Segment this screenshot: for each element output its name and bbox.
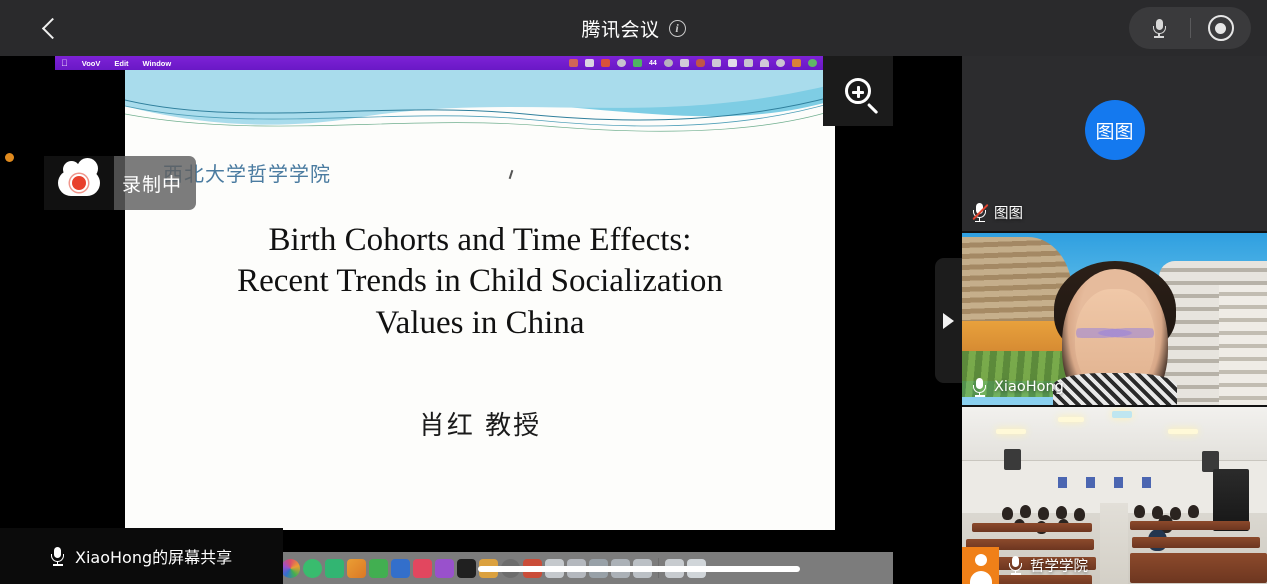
presentation-slide: 西北大学哲学学院 Birth Cohorts and Time Effects:… (125, 70, 835, 530)
home-indicator[interactable] (478, 566, 800, 572)
slide-decoration (125, 70, 835, 160)
participant-name: XiaoHong (994, 379, 1064, 395)
menu-item-voov[interactable]: VooV (82, 59, 101, 68)
microphone-button[interactable] (1129, 7, 1190, 49)
share-owner-label: XiaoHong的屏幕共享 (75, 544, 232, 568)
slide-title-line-2: Recent Trends in Child Socialization (155, 261, 805, 302)
slide-author: 肖红 教授 (155, 405, 805, 442)
meeting-screen: 腾讯会议 i  VooV Edit (0, 0, 1267, 584)
avatar (962, 547, 999, 584)
participant-tile-tutu[interactable]: 图图 图图 (962, 56, 1267, 231)
status-icon-4[interactable] (617, 59, 626, 67)
wall-calligraphy (1058, 477, 1170, 488)
screen-share-area[interactable]:  VooV Edit Window 44 (0, 56, 962, 584)
participant-label: 图图 (972, 202, 1023, 223)
participant-label: XiaoHong (972, 378, 1064, 397)
zoom-in-button[interactable] (823, 56, 893, 126)
record-button[interactable] (1191, 7, 1252, 49)
display-status-icon[interactable] (712, 59, 721, 67)
status-dot-indicator (5, 153, 14, 162)
siri-status-icon[interactable] (808, 59, 817, 67)
microphone-icon (1152, 19, 1167, 38)
participant-tile-xiaohong[interactable]: XiaoHong (962, 233, 1267, 404)
recording-label-box: 录制中 (114, 156, 196, 210)
screen-share-footer: XiaoHong的屏幕共享 (0, 528, 962, 584)
microphone-icon (1008, 556, 1023, 575)
slide-title: Birth Cohorts and Time Effects: Recent T… (155, 220, 805, 344)
slide-title-line-1: Birth Cohorts and Time Effects: (155, 220, 805, 261)
record-icon (1208, 15, 1234, 41)
battery-status-icon[interactable] (744, 59, 753, 67)
shared-desktop:  VooV Edit Window 44 (55, 56, 893, 584)
status-icon-3[interactable] (601, 59, 610, 67)
info-circle-icon[interactable]: i (669, 20, 686, 37)
input-source-status-icon[interactable] (728, 59, 737, 67)
wifi-status-icon[interactable] (760, 59, 769, 67)
zoom-in-magnifier-icon (845, 78, 871, 104)
page-title: 腾讯会议 (581, 15, 659, 42)
globe-status-icon[interactable] (664, 59, 673, 67)
mac-menu-bar:  VooV Edit Window 44 (55, 56, 893, 70)
microphone-muted-icon (972, 203, 987, 222)
header-controls (1129, 7, 1251, 49)
slide-title-line-3: Values in China (155, 303, 805, 344)
shield-status-icon[interactable] (696, 59, 705, 67)
recording-label: 录制中 (122, 170, 182, 197)
top-bar: 腾讯会议 i (0, 0, 1267, 56)
wechat-status-icon[interactable] (633, 59, 642, 67)
binoculars-status-icon[interactable] (680, 59, 689, 67)
mouse-cursor (509, 170, 514, 179)
participant-tile-philosophy-school[interactable]: 哲学学院 (962, 407, 1267, 584)
search-status-icon[interactable] (776, 59, 785, 67)
menu-item-window[interactable]: Window (143, 59, 172, 68)
menu-item-edit[interactable]: Edit (114, 59, 128, 68)
recording-badge: 录制中 (44, 156, 196, 210)
control-center-status-icon[interactable] (792, 59, 801, 67)
microphone-icon (972, 378, 987, 397)
status-icon-2[interactable] (585, 59, 594, 67)
status-icon-1[interactable] (569, 59, 578, 67)
status-badge-count: 44 (649, 60, 657, 67)
avatar-initials: 图图 (1095, 117, 1133, 144)
play-triangle-icon (943, 313, 954, 329)
filmstrip-collapse-handle[interactable] (935, 258, 962, 383)
meeting-title-group: 腾讯会议 i (0, 0, 1267, 56)
participant-filmstrip: 图图 图图 (962, 56, 1267, 584)
participant-name: 哲学学院 (1030, 555, 1088, 576)
participant-name: 图图 (994, 202, 1023, 223)
avatar: 图图 (1085, 100, 1145, 160)
participant-label: 哲学学院 (1008, 555, 1088, 576)
cloud-record-icon (44, 156, 114, 210)
microphone-icon (50, 547, 65, 566)
apple-logo-icon[interactable]:  (61, 58, 68, 68)
